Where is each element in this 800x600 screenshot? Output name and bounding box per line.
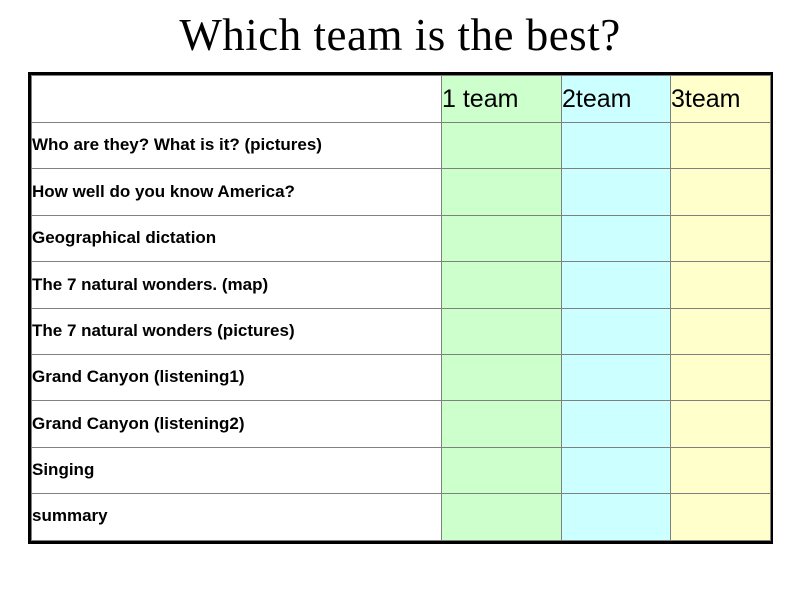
table-row: Singing (32, 447, 771, 493)
row-label-1: How well do you know America? (32, 169, 442, 215)
score-cell-team3-row7[interactable] (671, 447, 771, 493)
score-cell-team1-row4[interactable] (442, 308, 562, 354)
row-label-6: Grand Canyon (listening2) (32, 401, 442, 447)
row-label-4: The 7 natural wonders (pictures) (32, 308, 442, 354)
score-cell-team3-row5[interactable] (671, 354, 771, 400)
score-cell-team2-row2[interactable] (562, 215, 671, 261)
score-cell-team1-row2[interactable] (442, 215, 562, 261)
score-cell-team3-row3[interactable] (671, 262, 771, 308)
score-table: 1 team 2team 3team Who are they? What is… (31, 75, 771, 541)
score-cell-team1-row6[interactable] (442, 401, 562, 447)
row-label-2: Geographical dictation (32, 215, 442, 261)
row-label-5: Grand Canyon (listening1) (32, 354, 442, 400)
score-cell-team3-row0[interactable] (671, 123, 771, 169)
score-cell-team1-row5[interactable] (442, 354, 562, 400)
score-cell-team3-row8[interactable] (671, 494, 771, 540)
table-row: summary (32, 494, 771, 540)
score-cell-team2-row6[interactable] (562, 401, 671, 447)
score-cell-team2-row7[interactable] (562, 447, 671, 493)
table-row: Grand Canyon (listening1) (32, 354, 771, 400)
score-cell-team1-row8[interactable] (442, 494, 562, 540)
score-cell-team2-row4[interactable] (562, 308, 671, 354)
score-cell-team3-row1[interactable] (671, 169, 771, 215)
score-cell-team2-row1[interactable] (562, 169, 671, 215)
score-cell-team3-row4[interactable] (671, 308, 771, 354)
score-cell-team3-row6[interactable] (671, 401, 771, 447)
row-label-7: Singing (32, 447, 442, 493)
row-label-0: Who are they? What is it? (pictures) (32, 123, 442, 169)
table-header: 1 team 2team 3team (32, 76, 771, 123)
slide-canvas: Which team is the best? 1 team 2team 3te… (0, 0, 800, 600)
row-label-3: The 7 natural wonders. (map) (32, 262, 442, 308)
score-table-container: 1 team 2team 3team Who are they? What is… (28, 72, 773, 544)
score-cell-team1-row1[interactable] (442, 169, 562, 215)
column-header-team1: 1 team (442, 76, 562, 123)
header-row: 1 team 2team 3team (32, 76, 771, 123)
score-cell-team2-row5[interactable] (562, 354, 671, 400)
row-label-8: summary (32, 494, 442, 540)
page-title: Which team is the best? (0, 8, 800, 62)
score-cell-team1-row3[interactable] (442, 262, 562, 308)
column-header-team3: 3team (671, 76, 771, 123)
table-row: The 7 natural wonders. (map) (32, 262, 771, 308)
score-cell-team2-row0[interactable] (562, 123, 671, 169)
score-cell-team3-row2[interactable] (671, 215, 771, 261)
column-header-team2: 2team (562, 76, 671, 123)
table-row: Who are they? What is it? (pictures) (32, 123, 771, 169)
score-cell-team2-row3[interactable] (562, 262, 671, 308)
table-row: How well do you know America? (32, 169, 771, 215)
table-row: The 7 natural wonders (pictures) (32, 308, 771, 354)
table-corner-cell (32, 76, 442, 123)
score-cell-team1-row7[interactable] (442, 447, 562, 493)
table-row: Geographical dictation (32, 215, 771, 261)
table-row: Grand Canyon (listening2) (32, 401, 771, 447)
score-cell-team2-row8[interactable] (562, 494, 671, 540)
score-cell-team1-row0[interactable] (442, 123, 562, 169)
table-body: Who are they? What is it? (pictures) How… (32, 123, 771, 541)
